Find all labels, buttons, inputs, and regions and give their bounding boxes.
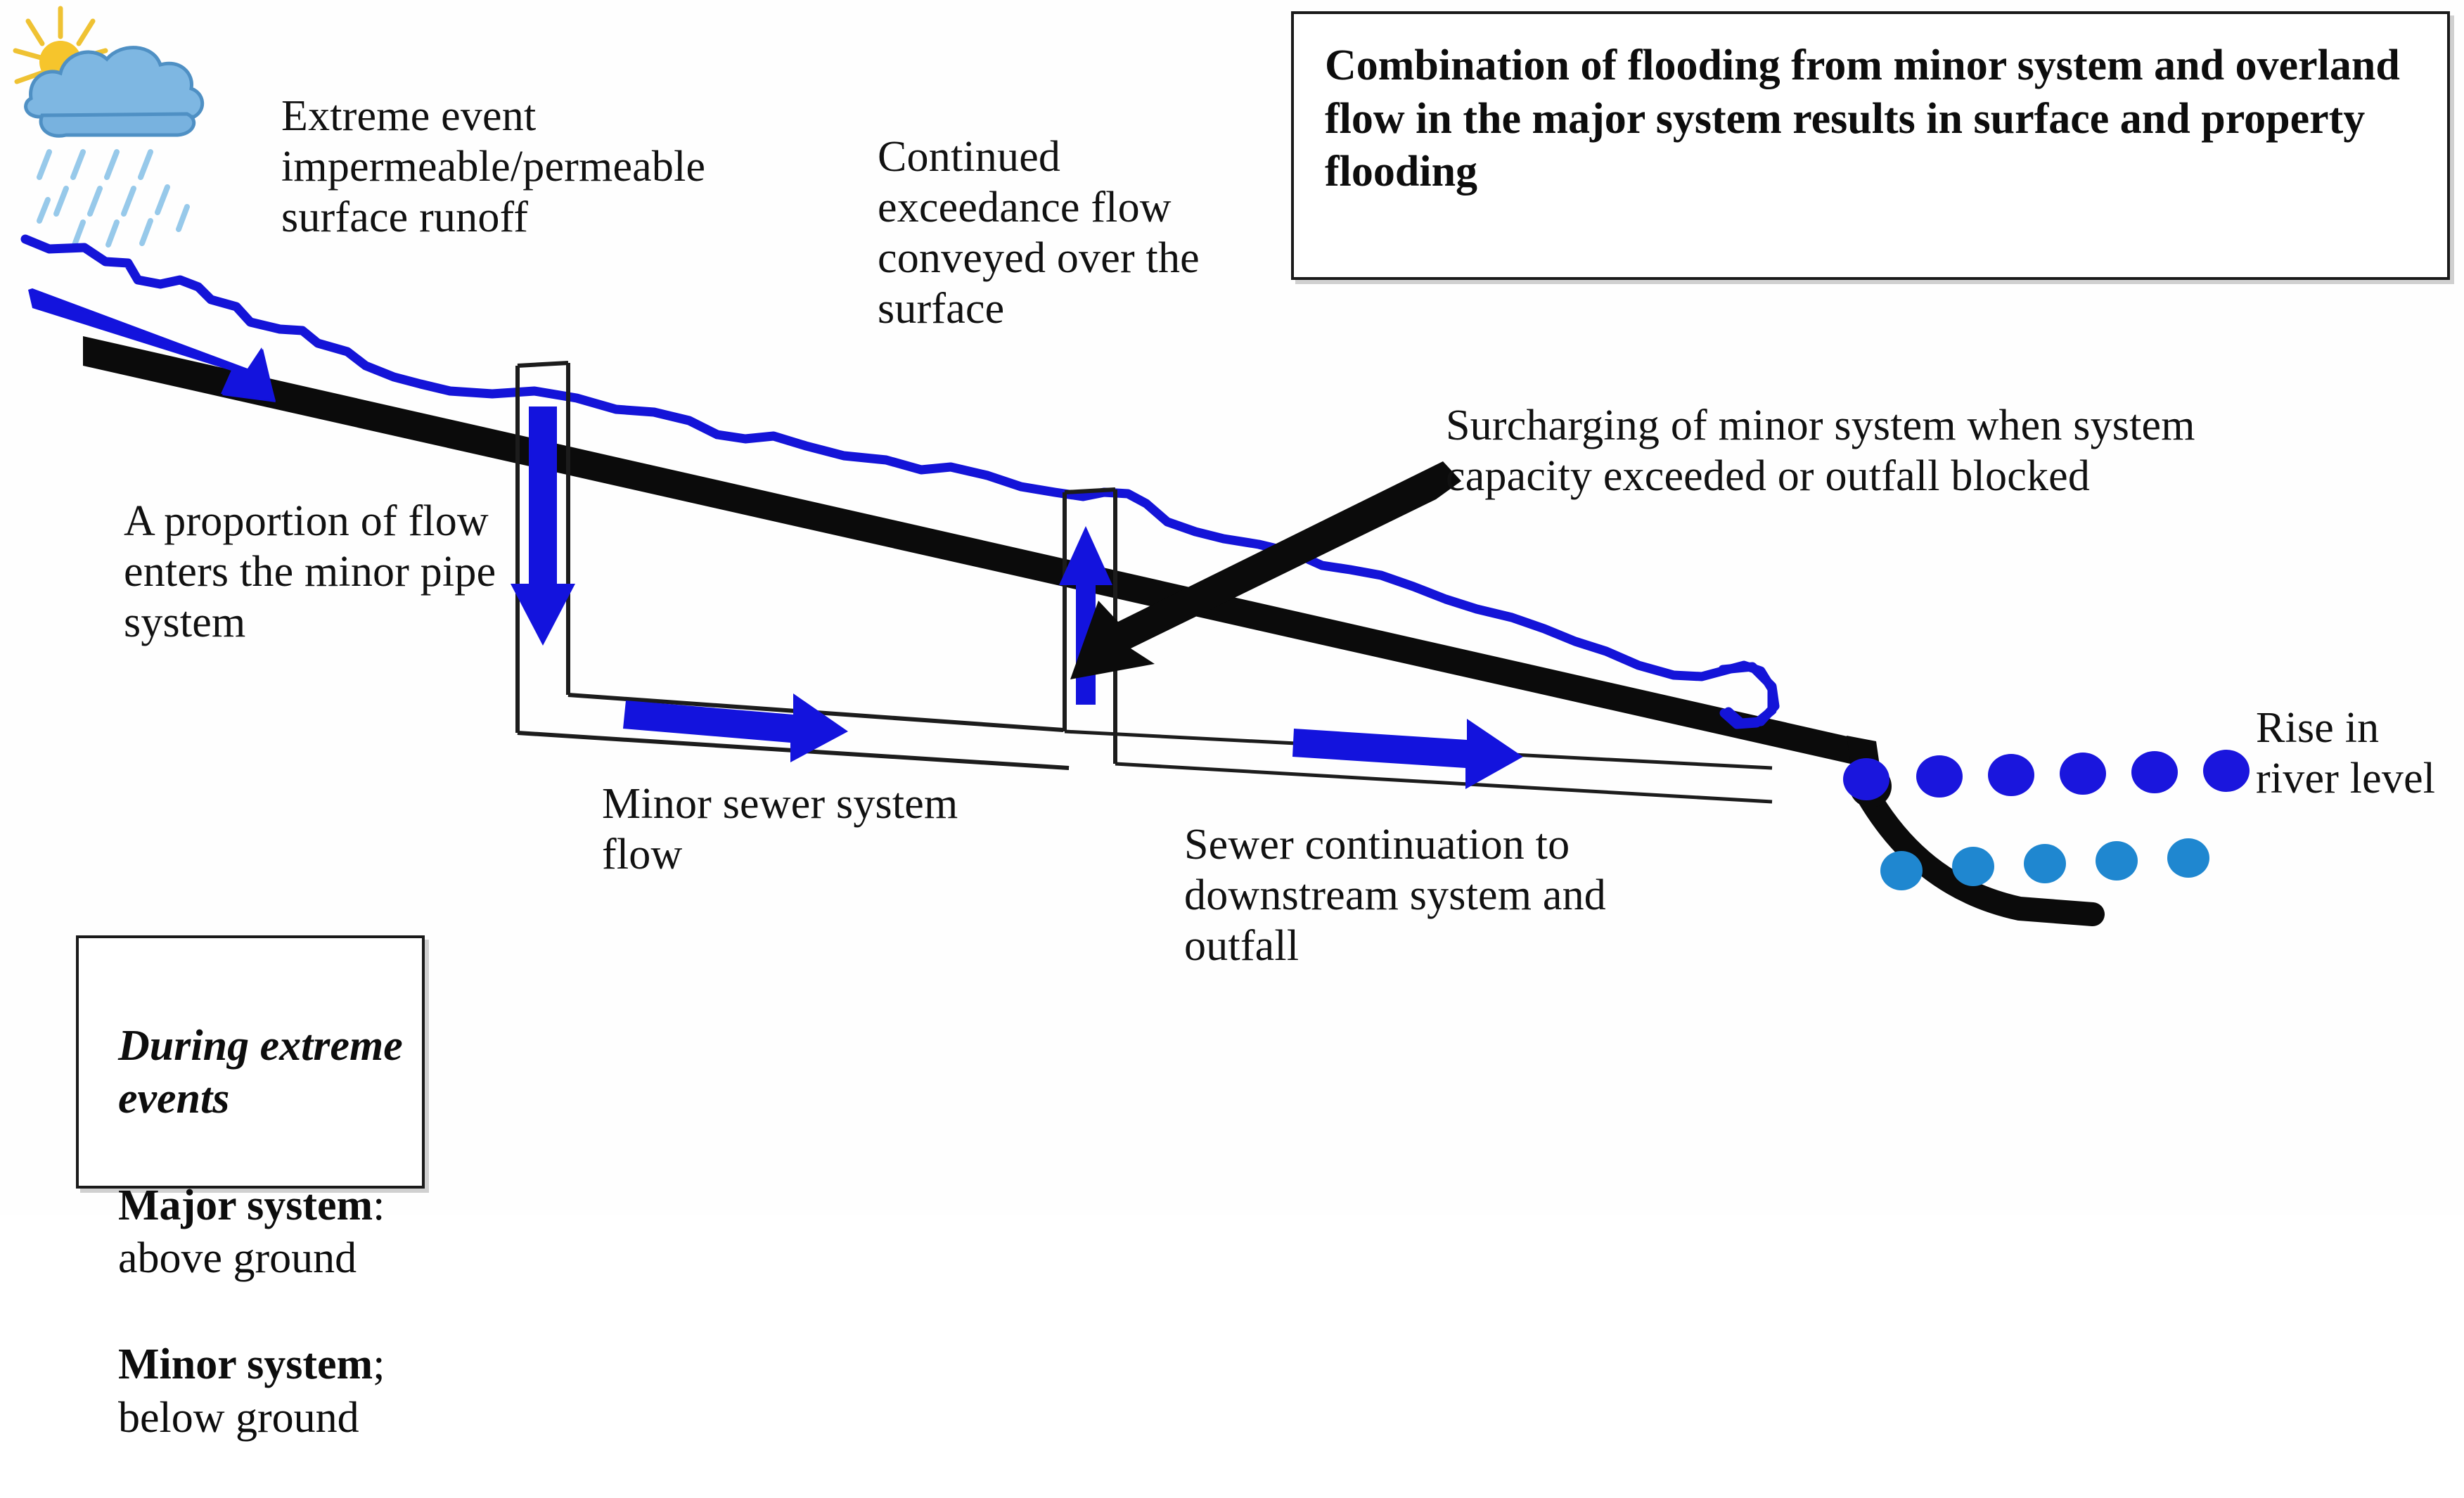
- label-sewer-continuation: Sewer continuation to downstream system …: [1184, 820, 1676, 972]
- legend-line-minor-system: Minor system; below ground: [118, 1338, 422, 1445]
- callout-box-combination-flooding: Combination of flooding from minor syste…: [1291, 11, 2450, 280]
- sun-behind-rain-cloud-icon: [15, 8, 203, 245]
- legend-text-block: During extreme events Major system: abov…: [118, 966, 422, 1498]
- legend-line-major-system: Major system: above ground: [118, 1179, 422, 1286]
- legend-line-during-extreme-events: During extreme events: [118, 1020, 422, 1126]
- callout-box-legend: During extreme events Major system: abov…: [76, 935, 425, 1189]
- label-rise-in-river-level: Rise in river level: [2256, 703, 2460, 805]
- legend-major-system-bold: Major system: [118, 1182, 373, 1229]
- label-minor-sewer-system-flow: Minor sewer system flow: [602, 779, 996, 881]
- rain-drops-icon: [39, 152, 187, 245]
- outfall-structure: [1847, 736, 2093, 914]
- callout-box-combination-flooding-text: Combination of flooding from minor syste…: [1325, 39, 2419, 199]
- label-extreme-event: Extreme event impermeable/permeable surf…: [281, 91, 802, 243]
- river-level-dots-upper: [1843, 750, 2250, 800]
- label-surcharging-of-minor-system: Surcharging of minor system when system …: [1446, 401, 2283, 502]
- label-proportion-of-flow: A proportion of flow enters the minor pi…: [124, 497, 560, 648]
- diagram-canvas: Extreme event impermeable/permeable surf…: [0, 0, 2464, 1215]
- label-continued-exceedance: Continued exceedance flow conveyed over …: [878, 132, 1271, 335]
- blue-arrow-right-icon-2: [1292, 719, 1523, 789]
- legend-minor-system-bold: Minor system: [118, 1340, 373, 1388]
